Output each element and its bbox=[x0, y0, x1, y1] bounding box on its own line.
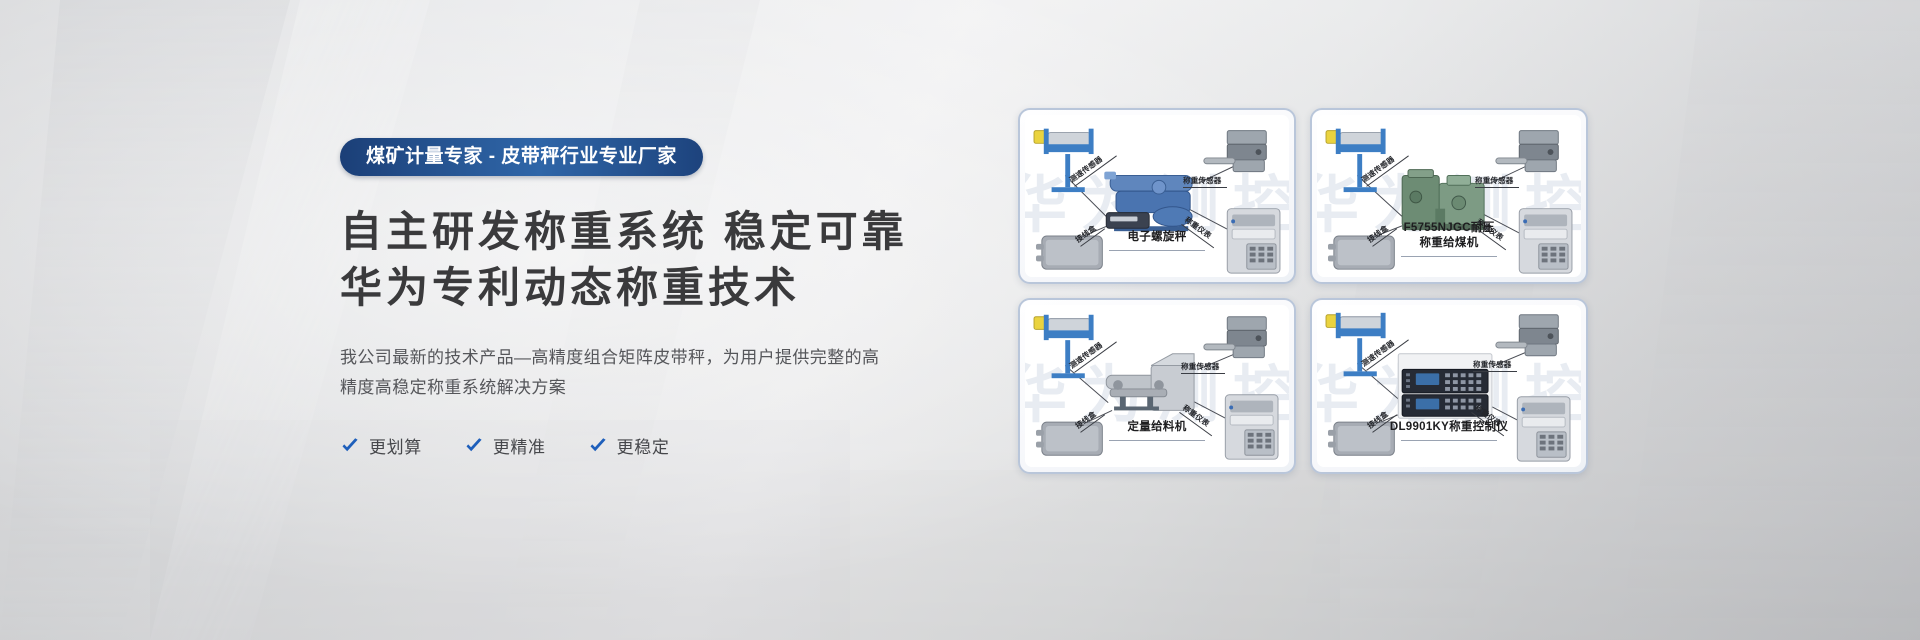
bullet-label: 更精准 bbox=[493, 433, 546, 458]
product-card-electronic-spiral-scale[interactable]: 华为测控 bbox=[1018, 108, 1296, 284]
product-diagram bbox=[1025, 115, 1289, 277]
page-title: 自主研发称重系统 稳定可靠 华为专利动态称重技术 bbox=[340, 204, 940, 317]
check-icon bbox=[588, 436, 608, 456]
hero-copy: 煤矿计量专家 - 皮带秤行业专业厂家 自主研发称重系统 稳定可靠 华为专利动态称… bbox=[340, 138, 940, 458]
product-card-quantitative-feeder[interactable]: 华为测控 bbox=[1018, 298, 1296, 474]
product-diagram bbox=[1317, 305, 1581, 467]
card-inner: 华为测控 bbox=[1025, 115, 1289, 277]
background-streaks bbox=[0, 0, 1920, 640]
bullet-item: 更稳定 bbox=[588, 433, 670, 458]
headline-line-1: 自主研发称重系统 稳定可靠 bbox=[340, 204, 940, 260]
headline-line-2: 华为专利动态称重技术 bbox=[340, 260, 940, 316]
check-icon bbox=[464, 436, 484, 456]
background-vignette bbox=[0, 0, 1920, 640]
hero-banner: 煤矿计量专家 - 皮带秤行业专业厂家 自主研发称重系统 稳定可靠 华为专利动态称… bbox=[0, 0, 1920, 640]
product-diagram bbox=[1025, 305, 1289, 467]
hero-description: 我公司最新的技术产品—高精度组合矩阵皮带秤，为用户提供完整的高精度高稳定称重系统… bbox=[340, 343, 880, 404]
bullet-label: 更划算 bbox=[369, 433, 422, 458]
product-card-grid: 华为测控 bbox=[1018, 108, 1588, 474]
product-diagram bbox=[1317, 115, 1581, 277]
product-card-f5755njgc-coal-feeder[interactable]: 华为测控 bbox=[1310, 108, 1588, 284]
check-icon bbox=[340, 436, 360, 456]
card-inner: 华为测控 bbox=[1317, 115, 1581, 277]
card-inner: 华为测控 bbox=[1025, 305, 1289, 467]
card-inner: 华为测控 bbox=[1317, 305, 1581, 467]
bullet-label: 更稳定 bbox=[617, 433, 670, 458]
product-card-dl9901ky-controller[interactable]: 华为测控 bbox=[1310, 298, 1588, 474]
bullet-item: 更划算 bbox=[340, 433, 422, 458]
bullet-item: 更精准 bbox=[464, 433, 546, 458]
hero-badge: 煤矿计量专家 - 皮带秤行业专业厂家 bbox=[340, 138, 703, 176]
feature-bullets: 更划算 更精准 更稳定 bbox=[340, 433, 940, 458]
